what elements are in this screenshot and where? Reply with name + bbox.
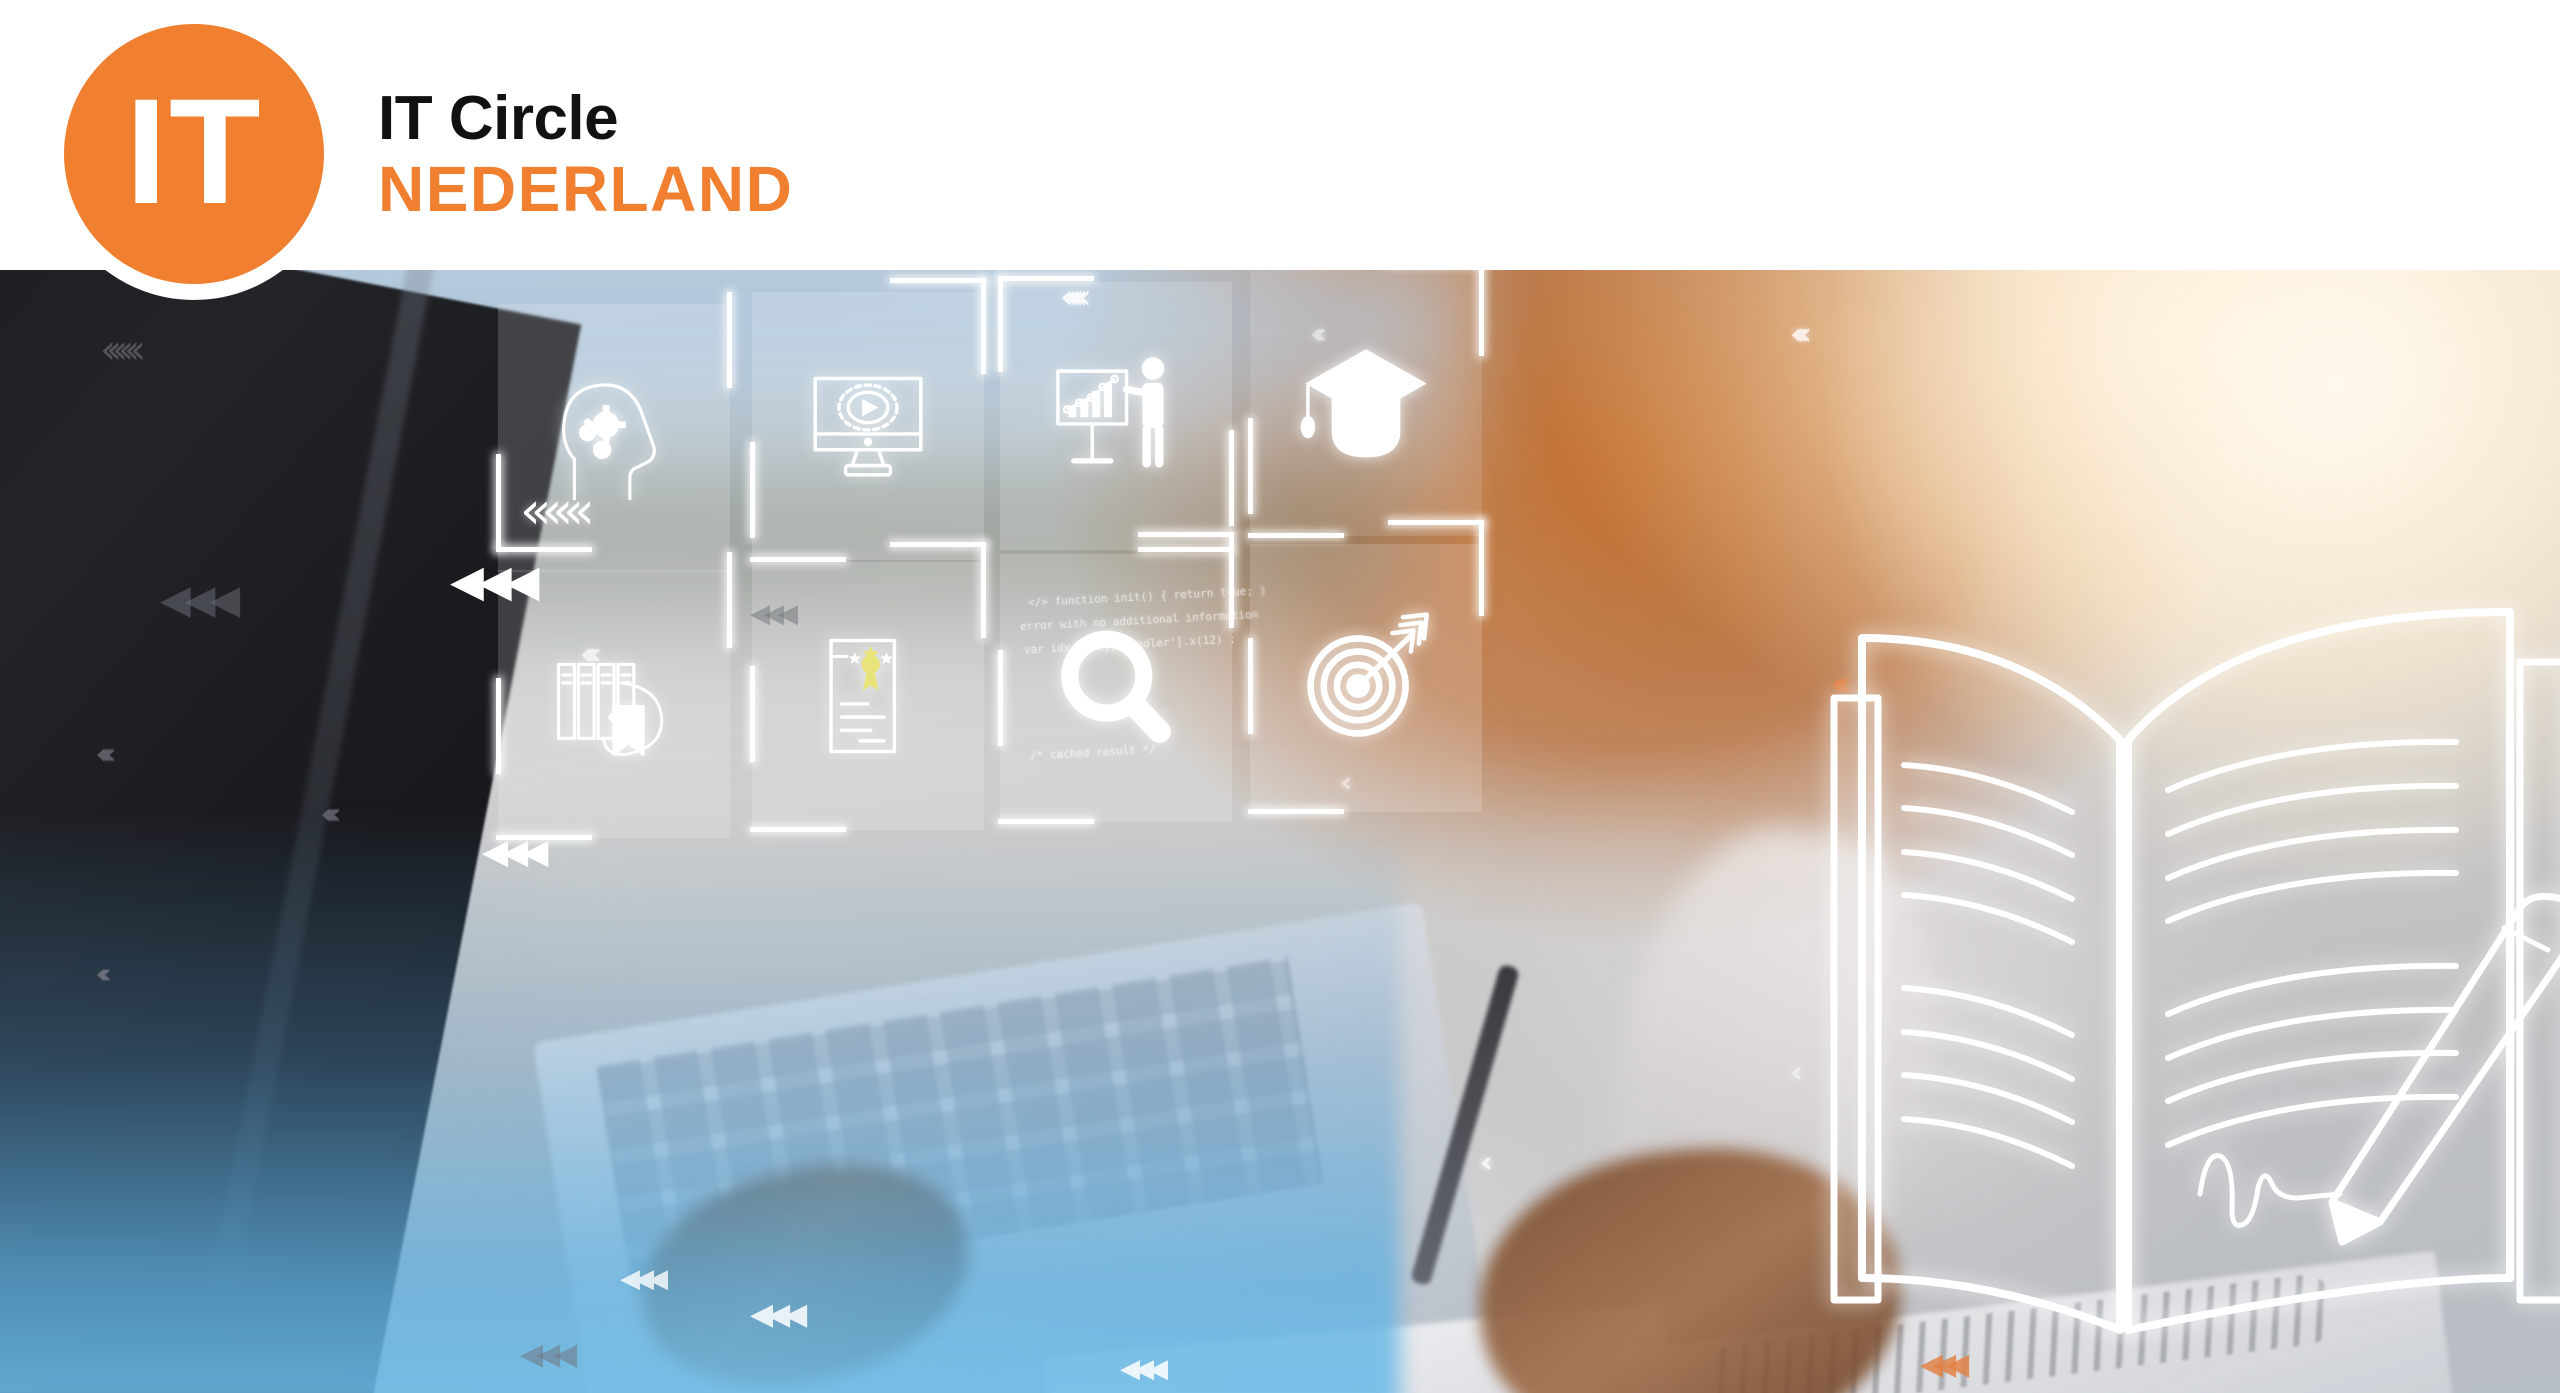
tile-target[interactable] bbox=[1250, 544, 1482, 812]
corner-bracket bbox=[998, 650, 1003, 746]
corner-bracket bbox=[1248, 638, 1253, 734]
corner-bracket bbox=[496, 835, 592, 840]
page-root: </> function init() { return true; } err… bbox=[0, 0, 2560, 1393]
monitor-play-video-icon bbox=[802, 360, 934, 492]
corner-bracket bbox=[727, 292, 732, 388]
site-header: IT Circle NEDERLAND bbox=[0, 0, 2560, 270]
open-book-with-pen-icon bbox=[1820, 590, 2560, 1390]
corner-bracket bbox=[727, 552, 732, 648]
corner-bracket bbox=[1479, 270, 1484, 356]
corner-bracket bbox=[998, 819, 1094, 824]
corner-bracket bbox=[1248, 533, 1344, 538]
corner-bracket bbox=[998, 276, 1094, 281]
chevron-decoration: ‹‹‹‹‹‹ bbox=[95, 960, 102, 988]
tile-presentation[interactable] bbox=[1000, 282, 1232, 550]
brand-text-block: IT Circle NEDERLAND bbox=[378, 88, 793, 223]
corner-bracket bbox=[998, 276, 1003, 372]
corner-bracket bbox=[981, 542, 986, 638]
corner-bracket bbox=[1479, 520, 1484, 616]
corner-bracket bbox=[496, 454, 501, 550]
corner-bracket bbox=[1229, 430, 1234, 526]
corner-bracket bbox=[981, 278, 986, 374]
triangle-decoration: ◀◀◀ bbox=[1120, 1355, 1162, 1381]
tile-video[interactable] bbox=[752, 292, 984, 560]
tile-ai-brain[interactable] bbox=[498, 304, 730, 572]
corner-bracket bbox=[1248, 418, 1253, 514]
graduation-cap-icon bbox=[1300, 336, 1432, 468]
logo-monogram: IT bbox=[64, 24, 324, 284]
chevron-decoration: ‹‹‹‹‹‹ bbox=[1790, 1060, 1792, 1086]
corner-bracket bbox=[1229, 532, 1234, 628]
corner-bracket bbox=[750, 666, 755, 762]
corner-bracket bbox=[1138, 547, 1234, 552]
brand-name-secondary: NEDERLAND bbox=[378, 156, 793, 223]
corner-bracket bbox=[1388, 520, 1484, 525]
head-with-gears-icon bbox=[548, 372, 680, 504]
triangle-decoration: ◀◀◀ bbox=[620, 1265, 662, 1291]
corner-bracket bbox=[496, 547, 592, 552]
certificate-award-icon bbox=[802, 630, 934, 762]
books-with-bookmark-icon bbox=[548, 638, 680, 770]
chevron-decoration: ‹‹‹‹‹‹ bbox=[320, 800, 332, 830]
chevron-decoration: ‹‹‹‹‹‹ bbox=[100, 330, 136, 370]
triangle-decoration: ◀◀◀ bbox=[520, 1340, 571, 1370]
presenter-chart-board-icon bbox=[1050, 350, 1182, 482]
corner-bracket bbox=[1248, 809, 1344, 814]
target-arrow-icon bbox=[1300, 612, 1432, 744]
chevron-decoration: ‹‹‹‹‹‹ bbox=[1790, 320, 1802, 350]
tile-certificate[interactable] bbox=[752, 562, 984, 830]
hero-photo: </> function init() { return true; } err… bbox=[0, 270, 2560, 1393]
corner-bracket bbox=[890, 278, 986, 283]
tile-graduation[interactable] bbox=[1250, 270, 1482, 536]
tile-search[interactable]: </> function init() { return true; } err… bbox=[1000, 554, 1232, 822]
chevron-decoration: ‹‹‹‹‹‹ bbox=[95, 740, 107, 770]
triangle-decoration: ◀◀◀ bbox=[160, 580, 234, 620]
logo[interactable]: IT bbox=[64, 24, 324, 284]
corner-bracket bbox=[496, 678, 501, 774]
triangle-decoration: ◀◀◀ bbox=[482, 835, 542, 869]
triangle-decoration: ◀◀◀ bbox=[750, 1300, 801, 1330]
corner-bracket bbox=[890, 542, 986, 547]
chevron-decoration: ‹‹‹‹‹‹ bbox=[1480, 1150, 1482, 1176]
corner-bracket bbox=[1138, 532, 1234, 537]
corner-bracket bbox=[750, 442, 755, 538]
corner-bracket bbox=[750, 827, 846, 832]
tile-books[interactable] bbox=[498, 570, 730, 838]
brand-name-primary: IT Circle bbox=[378, 88, 793, 150]
magnifying-glass-icon bbox=[1050, 622, 1182, 754]
